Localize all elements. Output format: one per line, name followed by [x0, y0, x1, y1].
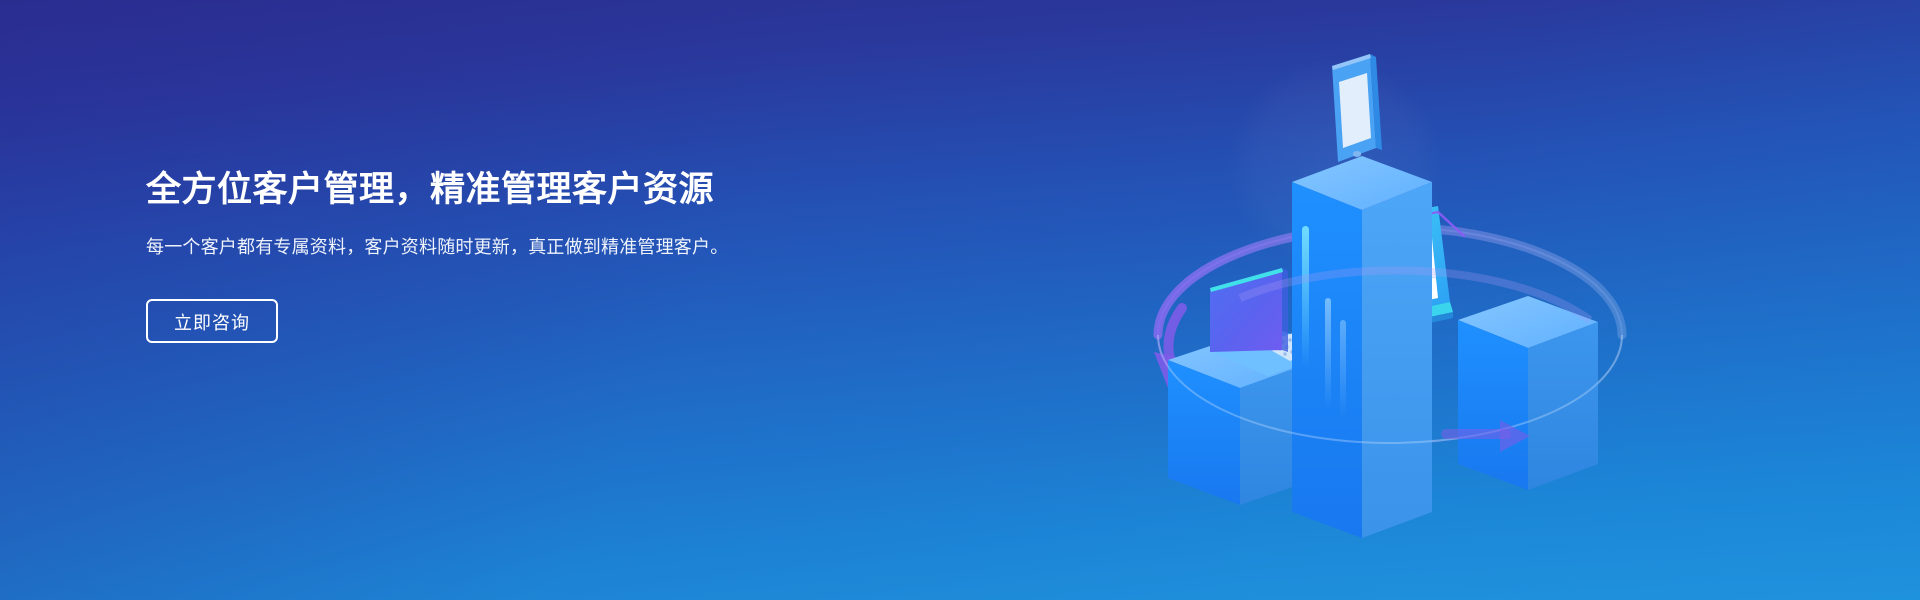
- hero-banner: 全方位客户管理，精准管理客户资源 每一个客户都有专属资料，客户资料随时更新，真正…: [0, 0, 1920, 600]
- hero-copy-block: 全方位客户管理，精准管理客户资源 每一个客户都有专属资料，客户资料随时更新，真正…: [146, 168, 786, 343]
- pillar-right: [1458, 296, 1598, 490]
- page-title: 全方位客户管理，精准管理客户资源: [146, 168, 786, 211]
- tablet: [1332, 54, 1382, 162]
- pillar-center: [1292, 156, 1432, 538]
- consult-now-button[interactable]: 立即咨询: [146, 299, 278, 343]
- hero-illustration: [1120, 30, 1660, 570]
- hero-subtitle: 每一个客户都有专属资料，客户资料随时更新，真正做到精准管理客户。: [146, 233, 731, 262]
